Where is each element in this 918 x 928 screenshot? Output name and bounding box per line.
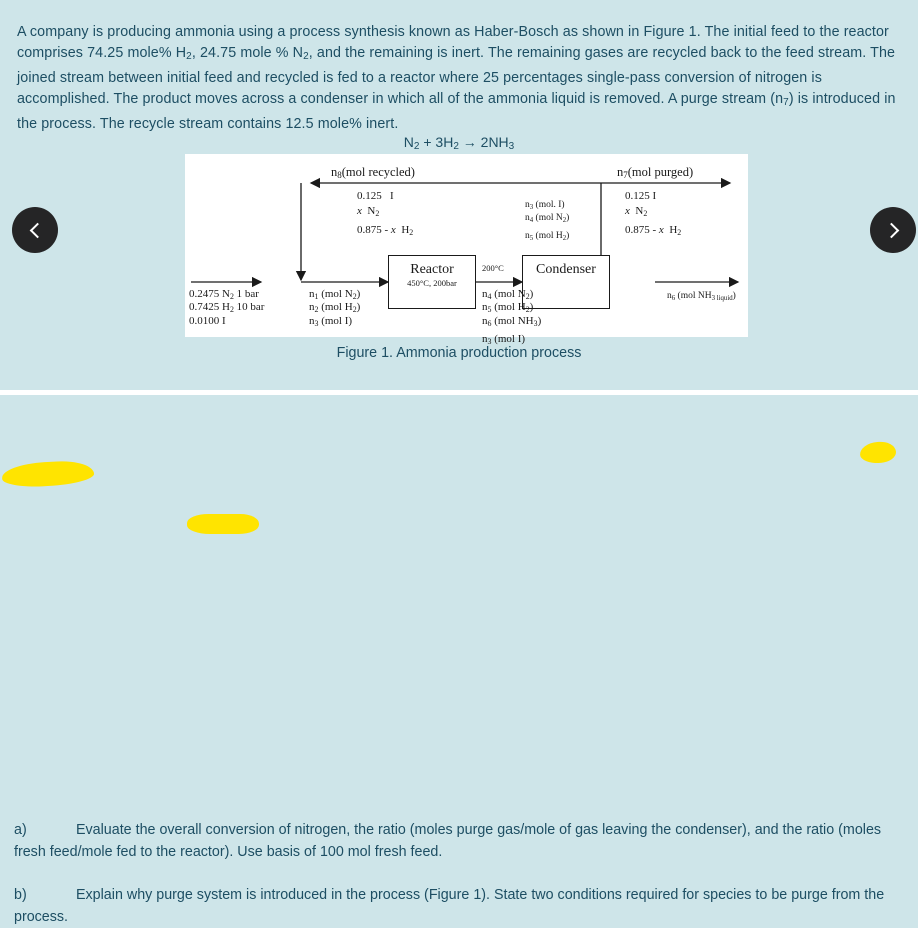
chevron-right-icon xyxy=(883,222,899,238)
reactor-name: Reactor xyxy=(389,262,475,278)
purge-stream-title: n7(mol purged) xyxy=(617,166,693,182)
question-b-text: Explain why purge system is introduced i… xyxy=(14,887,884,925)
reactor-conditions: 450°C, 200bar xyxy=(389,278,475,288)
questions-list: a)Evaluate the overall conversion of nit… xyxy=(14,820,907,928)
question-b-label: b) xyxy=(14,885,76,907)
fresh-feed-line-2: 0.7425 H2 10 bar xyxy=(189,301,264,316)
condenser-outlet-label: n6 (mol NH3 liquid) xyxy=(667,290,736,305)
figure-caption: Figure 1. Ammonia production process xyxy=(0,345,918,361)
condenser-unit: Condenser xyxy=(522,255,610,309)
splitter-stream-line-2: n4 (mol N2) xyxy=(525,212,569,227)
reactor-outlet-line-2: n5 (mol H2) xyxy=(482,301,533,316)
process-flow-diagram: Reactor 450°C, 200bar Condenser n8(mol r… xyxy=(185,154,748,337)
purge-stream-line-2: x N2 xyxy=(625,205,647,220)
problem-statement: A company is producing ammonia using a p… xyxy=(17,22,901,135)
purge-stream-line-1: 0.125 I xyxy=(625,190,656,203)
combined-feed-line-2: n2 (mol H2) xyxy=(309,301,360,316)
slide-top-panel: A company is producing ammonia using a p… xyxy=(0,0,918,390)
next-slide-button[interactable] xyxy=(870,207,916,253)
recycle-stream-line-2: x N2 xyxy=(357,205,379,220)
purge-stream-line-3: 0.875 - x H2 xyxy=(625,224,681,239)
condenser-name: Condenser xyxy=(523,262,609,278)
chevron-left-icon xyxy=(29,222,45,238)
reactor-outlet-temperature: 200°C xyxy=(482,262,504,275)
question-a-text: Evaluate the overall conversion of nitro… xyxy=(14,822,881,860)
recycle-stream-line-1: 0.125 I xyxy=(357,190,394,203)
reaction-equation: N2 + 3H2 → 2NH3 xyxy=(0,134,918,152)
fresh-feed-line-3: 0.0100 I xyxy=(189,315,226,328)
previous-slide-button[interactable] xyxy=(12,207,58,253)
reactor-outlet-line-3: n6 (mol NH3) xyxy=(482,315,541,330)
recycle-stream-line-3: 0.875 - x H2 xyxy=(357,224,413,239)
splitter-stream-line-3: n5 (mol H2) xyxy=(525,230,569,245)
slide-bottom-panel: a)Evaluate the overall conversion of nit… xyxy=(0,395,918,538)
question-b: b)Explain why purge system is introduced… xyxy=(14,885,907,928)
recycle-stream-title: n8(mol recycled) xyxy=(331,166,415,182)
combined-feed-line-3: n3 (mol I) xyxy=(309,315,352,330)
reactor-unit: Reactor 450°C, 200bar xyxy=(388,255,476,309)
highlight-mark-b xyxy=(187,514,259,534)
question-a: a)Evaluate the overall conversion of nit… xyxy=(14,820,907,863)
question-a-label: a) xyxy=(14,820,76,842)
diagram-canvas: Reactor 450°C, 200bar Condenser n8(mol r… xyxy=(185,154,748,337)
